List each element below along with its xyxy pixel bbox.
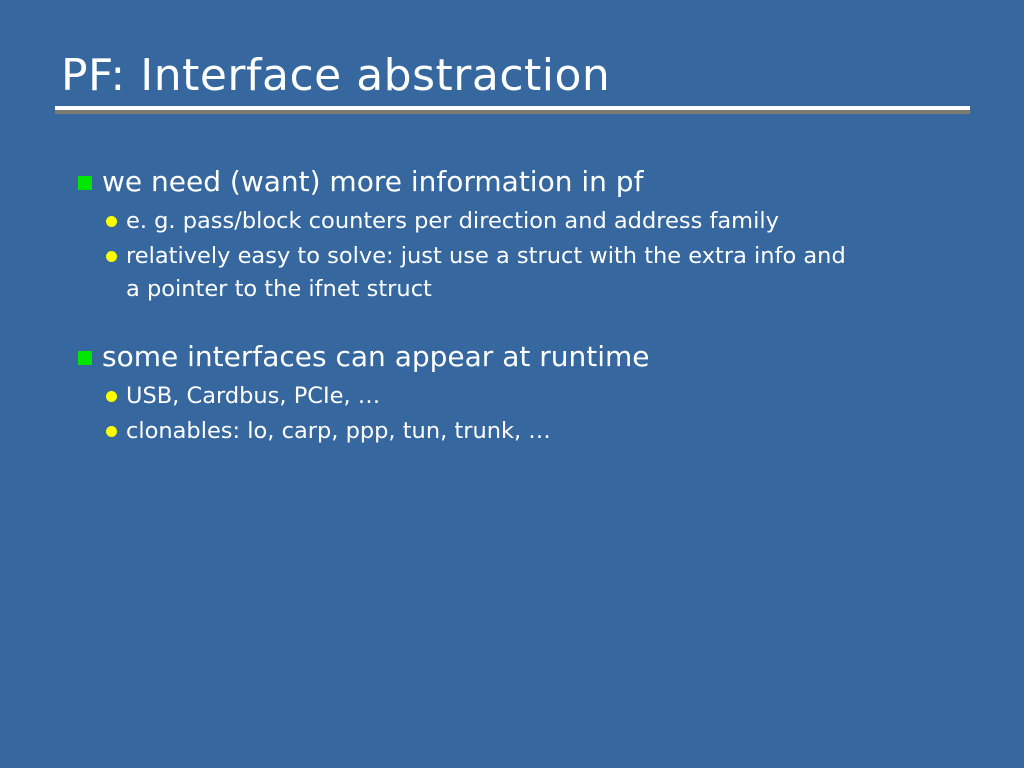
page-title: PF: Interface abstraction [55,50,970,102]
level1-bullet-label: some interfaces can appear at runtime [102,338,650,376]
level2-bullet: USB, Cardbus, PCIe, … [106,380,978,413]
level2-bullet: relatively easy to solve: just use a str… [106,240,978,306]
yellow-circle-bullet-icon [106,391,117,402]
yellow-circle-bullet-icon [106,426,117,437]
level1-bullet: we need (want) more information in pf [78,163,978,201]
level2-bullet: clonables: lo, carp, ppp, tun, trunk, … [106,415,978,448]
level2-line-primary: USB, Cardbus, PCIe, … [126,383,380,409]
slide-title-block: PF: Interface abstraction [55,50,970,110]
level2-line-primary: relatively easy to solve: just use a str… [126,243,846,269]
level2-bullet-label: USB, Cardbus, PCIe, … [126,380,380,413]
level2-line-primary: e. g. pass/block counters per direction … [126,208,779,234]
level2-bullet-label: e. g. pass/block counters per direction … [126,205,779,238]
yellow-circle-bullet-icon [106,251,117,262]
green-square-bullet-icon [78,176,92,190]
level1-bullet: some interfaces can appear at runtime [78,338,978,376]
bullet-group: some interfaces can appear at runtime US… [78,338,978,448]
green-square-bullet-icon [78,351,92,365]
level2-bullet: e. g. pass/block counters per direction … [106,205,978,238]
title-underline-rule [55,106,970,110]
title-underline-shadow [55,110,970,114]
bullet-group: we need (want) more information in pf e.… [78,163,978,306]
yellow-circle-bullet-icon [106,216,117,227]
presentation-slide: PF: Interface abstraction we need (want)… [0,0,1024,768]
slide-body: we need (want) more information in pf e.… [78,163,978,448]
level1-bullet-label: we need (want) more information in pf [102,163,643,201]
level2-line-continuation: a pointer to the ifnet struct [126,273,846,306]
level2-line-primary: clonables: lo, carp, ppp, tun, trunk, … [126,418,551,444]
level2-bullet-label: clonables: lo, carp, ppp, tun, trunk, … [126,415,551,448]
level2-bullet-label: relatively easy to solve: just use a str… [126,240,846,306]
